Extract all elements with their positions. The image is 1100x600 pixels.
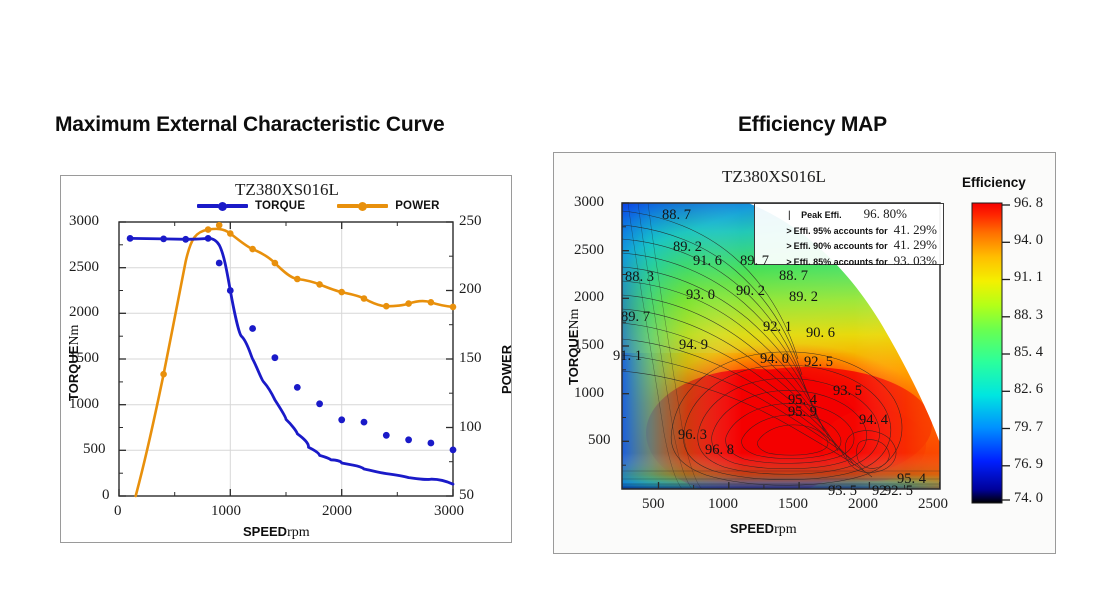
annotation-row: > Effi. 85% accounts for 93. 03%: [759, 254, 937, 270]
annot-key: Effi. 95% accounts for: [794, 225, 888, 239]
annot-prefix: >: [786, 225, 791, 239]
eff-xtick-2000: 2000: [848, 496, 878, 513]
xtick-0: 0: [114, 503, 122, 520]
eff-xtick-500: 500: [642, 496, 665, 513]
y2tick-100: 100: [459, 419, 482, 436]
right-panel-heading: Efficiency MAP: [738, 113, 887, 137]
efficiency-map-panel: TZ380XS016L: [553, 152, 1056, 554]
cbar-tick: 85. 4: [1014, 344, 1043, 361]
annot-key: Peak Effi.: [801, 209, 842, 223]
cbar-tick: 74. 0: [1014, 490, 1043, 507]
cbar-tick: 88. 3: [1014, 307, 1043, 324]
characteristic-curve-plot: [61, 176, 513, 544]
y-axis-unit-text: Nm: [67, 325, 82, 346]
cbar-tick: 76. 9: [1014, 456, 1043, 473]
eff-ytick-1000: 1000: [574, 385, 604, 402]
annot-value: 41. 29%: [894, 223, 937, 237]
eff-xtick-1000: 1000: [708, 496, 738, 513]
eff-x-axis-unit-text: rpm: [774, 522, 797, 537]
ytick-2000: 2000: [69, 304, 99, 321]
y-axis-title-left-chart: TORQUENm: [66, 325, 83, 401]
annotation-row: > Effi. 90% accounts for 41. 29%: [759, 238, 937, 254]
y2tick-200: 200: [459, 281, 482, 298]
annot-value: 93. 03%: [894, 254, 937, 268]
eff-ytick-500: 500: [588, 432, 611, 449]
y2tick-250: 250: [459, 213, 482, 230]
y-axis-title-right-chart: TORQUENm: [566, 309, 583, 385]
cbar-tick: 96. 8: [1014, 195, 1043, 212]
eff-y-axis-title-text: TORQUE: [566, 330, 581, 385]
y2tick-150: 150: [459, 350, 482, 367]
ytick-500: 500: [83, 441, 106, 458]
annot-value: 41. 29%: [894, 238, 937, 252]
eff-xtick-2500: 2500: [918, 496, 948, 513]
cbar-tick: 82. 6: [1014, 381, 1043, 398]
ytick-0: 0: [102, 487, 110, 504]
x-axis-title-left-chart: SPEEDrpm: [243, 524, 310, 541]
ytick-2500: 2500: [69, 259, 99, 276]
annotation-row: ⎸ Peak Effi. 96. 80%: [759, 207, 937, 223]
annotation-row: > Effi. 95% accounts for 41. 29%: [759, 223, 937, 239]
xtick-1000: 1000: [211, 503, 241, 520]
efficiency-colorbar: [962, 197, 1062, 527]
screenshot-root: Maximum External Characteristic Curve Ef…: [0, 0, 1100, 600]
annot-prefix: ⎸: [789, 209, 798, 223]
characteristic-curve-panel: TZ380XS016L TORQUE POWER: [60, 175, 512, 543]
colorbar-title: Efficiency: [962, 175, 1026, 190]
eff-ytick-2000: 2000: [574, 289, 604, 306]
x-axis-title-right-chart: SPEEDrpm: [730, 521, 797, 538]
y2-axis-title-left-chart: POWER: [499, 345, 514, 394]
y-axis-title-text: TORQUE: [66, 346, 81, 401]
x-axis-unit-text: rpm: [287, 525, 310, 540]
eff-x-axis-title-text: SPEED: [730, 521, 774, 536]
xtick-3000: 3000: [434, 503, 464, 520]
cbar-tick: 79. 7: [1014, 419, 1043, 436]
annot-value: 96. 80%: [864, 207, 907, 221]
y2tick-50: 50: [459, 487, 474, 504]
eff-xtick-1500: 1500: [778, 496, 808, 513]
ytick-3000: 3000: [69, 213, 99, 230]
xtick-2000: 2000: [322, 503, 352, 520]
annot-key: Effi. 90% accounts for: [794, 240, 888, 254]
annot-prefix: >: [786, 256, 791, 270]
annot-prefix: >: [786, 240, 791, 254]
cbar-tick: 91. 1: [1014, 269, 1043, 286]
eff-ytick-3000: 3000: [574, 194, 604, 211]
x-axis-title-text: SPEED: [243, 524, 287, 539]
eff-y-axis-unit-text: Nm: [567, 309, 582, 330]
eff-ytick-2500: 2500: [574, 242, 604, 259]
left-panel-heading: Maximum External Characteristic Curve: [55, 113, 444, 137]
annot-key: Effi. 85% accounts for: [794, 256, 888, 270]
cbar-tick: 94. 0: [1014, 232, 1043, 249]
efficiency-statistics-box: ⎸ Peak Effi. 96. 80% > Effi. 95% account…: [754, 203, 944, 265]
